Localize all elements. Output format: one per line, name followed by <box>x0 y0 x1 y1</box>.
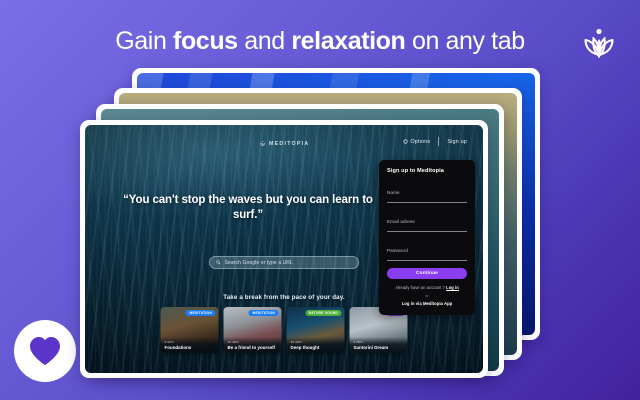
lotus-logo-icon <box>259 140 267 148</box>
login-link[interactable]: Log in <box>446 285 459 290</box>
options-label: Options <box>410 139 430 145</box>
card-duration: 5 MIN <box>165 340 215 344</box>
search-icon <box>216 260 221 265</box>
password-placeholder: Password <box>387 248 408 253</box>
nav-divider <box>438 137 439 146</box>
card-title: Foundations <box>165 345 215 350</box>
foreground-browser-window: MEDITOPIA Options Sign up <box>80 120 488 378</box>
brand-name: MEDITOPIA <box>269 141 309 147</box>
signup-panel: Sign up to Meditopia Name Email adress P… <box>379 160 475 315</box>
name-field[interactable]: Name <box>387 181 467 203</box>
content-card-row: MEDITATION 5 MIN Foundations MEDITATION … <box>161 307 408 353</box>
signup-nav-label: Sign up <box>447 139 467 145</box>
signup-heading: Sign up to Meditopia <box>387 168 467 174</box>
card-badge: MEDITATION <box>249 310 279 316</box>
card-footer: 12 MIN Be a friend to yourself <box>224 337 282 354</box>
card-title: Santorini Dream <box>354 345 404 350</box>
promo-banner: Gain focus and relaxation on any tab <box>0 0 640 400</box>
options-button[interactable]: Options <box>403 139 430 145</box>
browser-top-nav: Options Sign up <box>403 137 467 146</box>
card-duration: 30 MIN <box>291 340 341 344</box>
card-title: Deep thought <box>291 345 341 350</box>
password-field[interactable]: Password <box>387 239 467 261</box>
name-placeholder: Name <box>387 190 400 195</box>
continue-button[interactable]: Continue <box>387 268 467 279</box>
card-footer: 5 MIN Foundations <box>161 337 219 354</box>
email-placeholder: Email adress <box>387 219 415 224</box>
card-badge: NATURE SOUND <box>305 310 341 316</box>
search-placeholder: Search Google or type a URL <box>225 260 293 266</box>
gear-icon <box>403 139 408 144</box>
window-stack: MEDITOPIA Options Sign up <box>0 0 640 400</box>
app-login-button[interactable]: Log in via Meditopia App <box>387 301 467 306</box>
card-title: Be a friend to yourself <box>228 345 278 350</box>
content-card[interactable]: MEDITATION 5 MIN Foundations <box>161 307 219 353</box>
search-input[interactable]: Search Google or type a URL <box>209 256 359 269</box>
new-tab-page: MEDITOPIA Options Sign up <box>85 125 483 373</box>
existing-account-text: Already have an account ? <box>395 285 445 290</box>
card-footer: 30 MIN Deep thought <box>287 337 345 354</box>
email-field[interactable]: Email adress <box>387 210 467 232</box>
content-card[interactable]: NATURE SOUND 30 MIN Deep thought <box>287 307 345 353</box>
card-duration: 3 MIN <box>354 340 404 344</box>
card-duration: 12 MIN <box>228 340 278 344</box>
card-badge: MEDITATION <box>186 310 216 316</box>
card-footer: 3 MIN Santorini Dream <box>350 337 408 354</box>
signup-nav-button[interactable]: Sign up <box>447 139 467 145</box>
content-card[interactable]: MEDITATION 12 MIN Be a friend to yoursel… <box>224 307 282 353</box>
or-divider-label: or <box>387 294 467 298</box>
brand-lockup: MEDITOPIA <box>259 140 310 148</box>
existing-account-row: Already have an account ? Log in <box>387 285 467 290</box>
